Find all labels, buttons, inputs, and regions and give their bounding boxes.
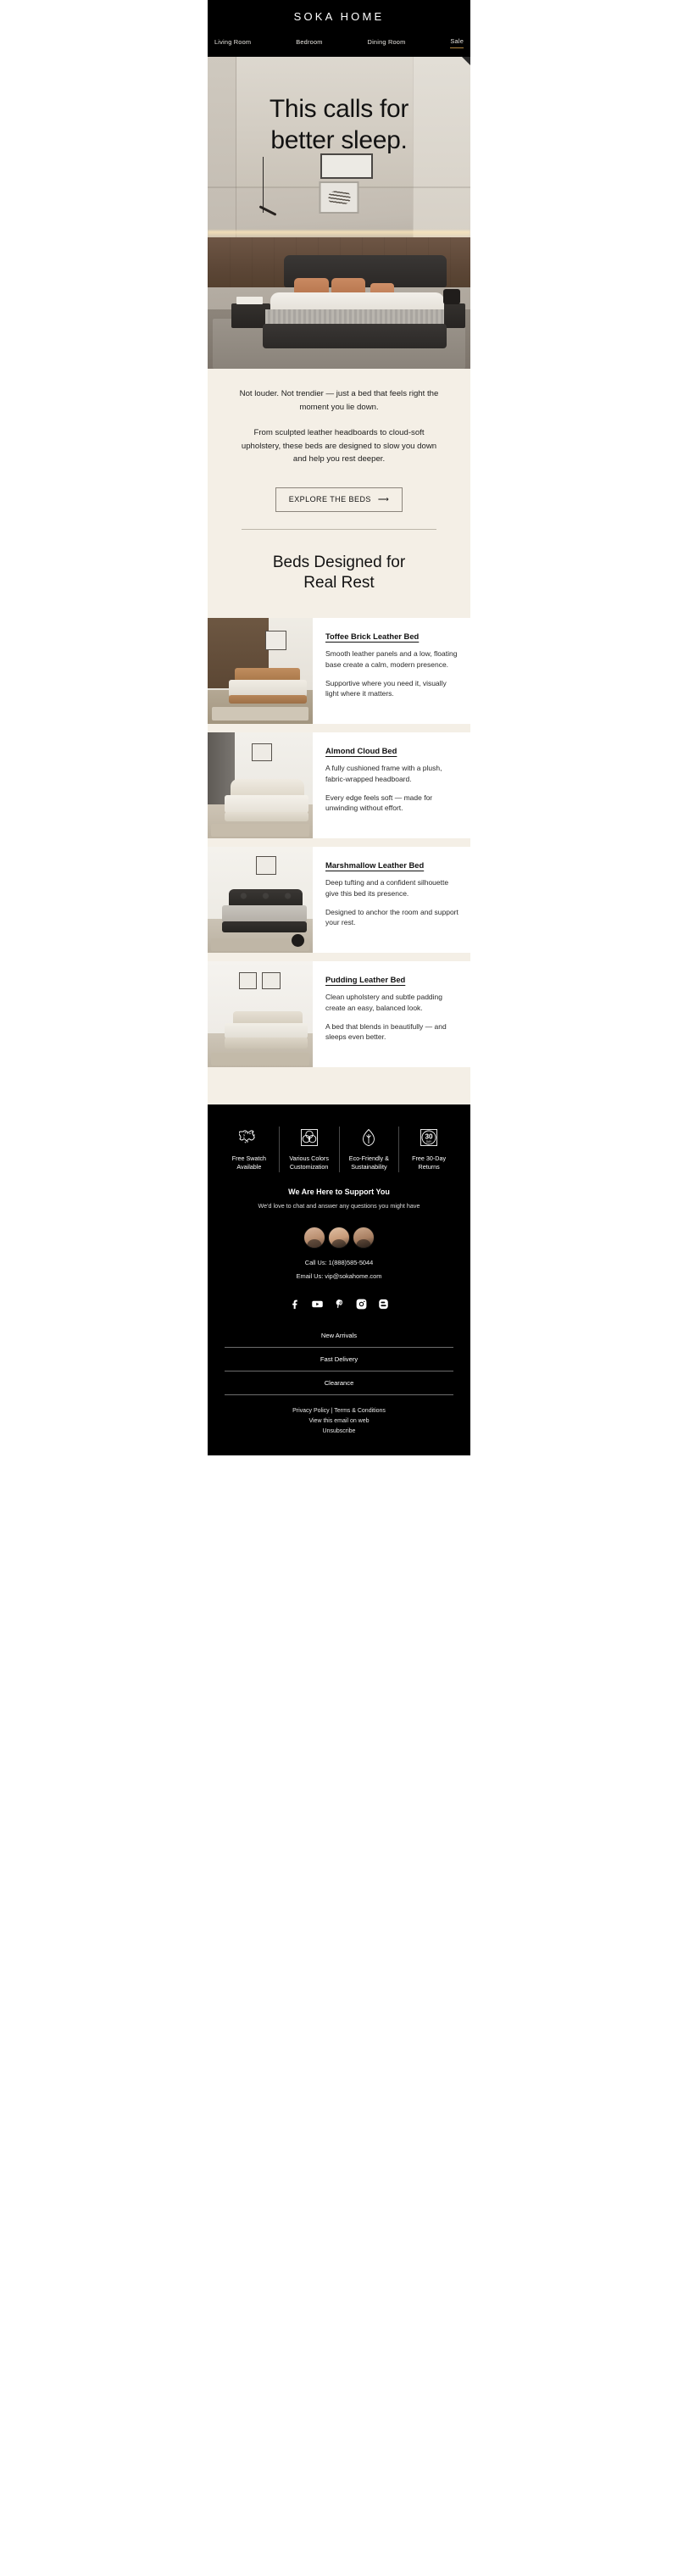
- footer-link-clearance[interactable]: Clearance: [225, 1371, 453, 1395]
- product-card-list: Toffee Brick Leather Bed Smooth leather …: [208, 618, 470, 1067]
- benefit-label: Various Colors Customization: [289, 1154, 329, 1172]
- benefit-label-line-2: Returns: [419, 1163, 440, 1171]
- hero-throw-blanket: [265, 309, 444, 325]
- blogger-icon[interactable]: [377, 1298, 390, 1310]
- brand-bar: SOKA HOME: [208, 0, 470, 32]
- thumb-bedding: [225, 795, 308, 813]
- product-description-1: A fully cushioned frame with a plush, fa…: [325, 763, 460, 785]
- hero-headline-line-1: This calls for: [208, 94, 470, 125]
- card-spacer: [208, 724, 470, 732]
- product-card[interactable]: Pudding Leather Bed Clean upholstery and…: [208, 961, 470, 1067]
- benefit-label: Free 30-Day Returns: [412, 1154, 446, 1172]
- product-card-body: Toffee Brick Leather Bed Smooth leather …: [313, 618, 470, 724]
- hero-art-lines: [328, 191, 350, 205]
- section-title-line-2: Real Rest: [225, 573, 453, 594]
- benefit-label: Free Swatch Available: [232, 1154, 266, 1172]
- hero-bed-base: [263, 324, 447, 348]
- product-image-pudding-leather-bed[interactable]: [208, 961, 313, 1067]
- thumb-scene: [208, 847, 313, 953]
- thumb-wall-art-icon: [265, 631, 286, 650]
- brand-logo: SOKA HOME: [294, 10, 385, 23]
- page-bottom-spacer: [0, 1455, 678, 1494]
- pinterest-icon[interactable]: [333, 1298, 346, 1310]
- hero-corner-fold-icon: [462, 57, 470, 65]
- thumb-wall-art-2-icon: [262, 972, 280, 989]
- email-canvas: SOKA HOME Living Room Bedroom Dining Roo…: [0, 0, 678, 1494]
- benefit-label-line-1: Free Swatch: [232, 1154, 266, 1162]
- product-card-body: Pudding Leather Bed Clean upholstery and…: [313, 961, 470, 1067]
- thumb-bed-base: [222, 921, 306, 933]
- benefit-label-line-2: Customization: [290, 1163, 329, 1171]
- arrow-right-icon: ⟶: [378, 495, 389, 504]
- benefit-label-line-1: Free 30-Day: [412, 1154, 446, 1162]
- support-subtitle: We'd love to chat and answer any questio…: [225, 1202, 453, 1210]
- product-card[interactable]: Marshmallow Leather Bed Deep tufting and…: [208, 847, 470, 953]
- thirty-day-icon: 30 DAY: [419, 1127, 439, 1149]
- footer-links: New Arrivals Fast Delivery Clearance: [208, 1324, 470, 1399]
- benefits-row: Free Swatch Available Various Colors Cus…: [208, 1118, 470, 1186]
- thumb-scene: [208, 732, 313, 838]
- benefit-label: Eco-Friendly & Sustainability: [349, 1154, 389, 1172]
- view-on-web-line: View this email on web: [208, 1418, 470, 1424]
- product-description-2: A bed that blends in beautifully — and s…: [325, 1021, 460, 1043]
- nav-item-dining-room[interactable]: Dining Room: [368, 38, 406, 48]
- product-card-body: Almond Cloud Bed A fully cushioned frame…: [313, 732, 470, 838]
- benefit-various-colors[interactable]: Various Colors Customization: [279, 1127, 339, 1172]
- product-title-link[interactable]: Toffee Brick Leather Bed: [325, 631, 419, 641]
- footer: Free Swatch Available Various Colors Cus…: [208, 1104, 470, 1455]
- intro-paragraph-2: From sculpted leather headboards to clou…: [236, 426, 442, 466]
- hero-banner[interactable]: This calls for better sleep.: [208, 57, 470, 369]
- contact-phone[interactable]: Call Us: 1(888)585-5044: [208, 1259, 470, 1266]
- terms-conditions-link[interactable]: Terms & Conditions: [334, 1408, 386, 1414]
- leather-hide-icon: [239, 1127, 259, 1149]
- privacy-policy-link[interactable]: Privacy Policy: [292, 1408, 330, 1414]
- contact-section: Call Us: 1(888)585-5044 Email Us: vip@so…: [208, 1258, 470, 1296]
- product-description-1: Clean upholstery and subtle padding crea…: [325, 992, 460, 1014]
- email-body: SOKA HOME Living Room Bedroom Dining Roo…: [208, 0, 470, 1455]
- product-image-almond-cloud-bed[interactable]: [208, 732, 313, 838]
- hero-framed-art-icon: [320, 181, 359, 214]
- main-navigation: Living Room Bedroom Dining Room Sale: [208, 32, 470, 57]
- thumb-bedding: [222, 905, 306, 922]
- product-description-2: Supportive where you need it, visually l…: [325, 678, 460, 700]
- hero-pendant-lamp-icon: [259, 205, 277, 216]
- card-spacer: [208, 838, 470, 847]
- benefit-eco-friendly[interactable]: Eco-Friendly & Sustainability: [339, 1127, 399, 1172]
- product-image-toffee-brick-leather-bed[interactable]: [208, 618, 313, 724]
- contact-email[interactable]: Email Us: vip@sokahome.com: [208, 1272, 470, 1280]
- explore-the-beds-button[interactable]: EXPLORE THE BEDS ⟶: [275, 487, 403, 512]
- legal-section: Privacy Policy | Terms & Conditions View…: [208, 1399, 470, 1455]
- thumb-bed-base: [225, 1038, 308, 1049]
- intro-section: Not louder. Not trendier — just a bed th…: [208, 369, 470, 482]
- product-card[interactable]: Almond Cloud Bed A fully cushioned frame…: [208, 732, 470, 838]
- nav-item-living-room[interactable]: Living Room: [214, 38, 251, 48]
- product-image-marshmallow-leather-bed[interactable]: [208, 847, 313, 953]
- product-description-2: Every edge feels soft — made for unwindi…: [325, 793, 460, 815]
- leaf-icon: [358, 1127, 379, 1149]
- product-title-link[interactable]: Marshmallow Leather Bed: [325, 860, 424, 870]
- support-section: We Are Here to Support You We'd love to …: [208, 1186, 470, 1218]
- thumb-wall-art-icon: [239, 972, 257, 989]
- footer-link-fast-delivery[interactable]: Fast Delivery: [225, 1348, 453, 1371]
- benefit-label-line-1: Eco-Friendly &: [349, 1154, 389, 1162]
- hero-wall-artwork-icon: [320, 153, 373, 178]
- youtube-icon[interactable]: [311, 1298, 324, 1310]
- hero-books: [236, 297, 263, 303]
- avatar: [328, 1227, 350, 1249]
- intro-paragraph-1: Not louder. Not trendier — just a bed th…: [236, 387, 442, 414]
- social-links: [208, 1296, 470, 1324]
- cards-bottom-spacer: [208, 1067, 470, 1104]
- thumb-bed-base: [229, 695, 307, 704]
- product-title-link[interactable]: Pudding Leather Bed: [325, 975, 405, 984]
- thumb-scene: [208, 961, 313, 1067]
- card-spacer: [208, 953, 470, 961]
- thumb-scene: [208, 618, 313, 724]
- unsubscribe-link[interactable]: Unsubscribe: [323, 1428, 356, 1434]
- thumb-headboard: [229, 889, 303, 906]
- thumb-rug: [211, 824, 310, 837]
- product-card-body: Marshmallow Leather Bed Deep tufting and…: [313, 847, 470, 953]
- thumb-bedding: [229, 680, 307, 697]
- svg-text:DAY: DAY: [426, 1140, 432, 1143]
- unsubscribe-line: Unsubscribe: [208, 1428, 470, 1434]
- product-description-1: Smooth leather panels and a low, floatin…: [325, 648, 460, 670]
- facebook-icon[interactable]: [289, 1298, 302, 1310]
- product-description-1: Deep tufting and a confident silhouette …: [325, 877, 460, 899]
- section-title: Beds Designed for Real Rest: [208, 530, 470, 618]
- benefit-free-returns[interactable]: 30 DAY Free 30-Day Returns: [398, 1127, 458, 1172]
- nav-item-bedroom[interactable]: Bedroom: [296, 38, 322, 48]
- benefit-label-line-1: Various Colors: [289, 1154, 329, 1162]
- section-title-line-1: Beds Designed for: [225, 553, 453, 574]
- thumb-wall-art-icon: [256, 856, 276, 874]
- cta-label: EXPLORE THE BEDS: [289, 495, 371, 504]
- hero-headline-line-2: better sleep.: [208, 125, 470, 157]
- thumb-rug: [211, 1053, 310, 1065]
- thumb-bedding: [225, 1023, 308, 1039]
- support-title: We Are Here to Support You: [225, 1188, 453, 1196]
- instagram-icon[interactable]: [355, 1298, 368, 1310]
- product-card[interactable]: Toffee Brick Leather Bed Smooth leather …: [208, 618, 470, 724]
- benefit-free-swatch[interactable]: Free Swatch Available: [220, 1127, 279, 1172]
- hero-headline: This calls for better sleep.: [208, 94, 470, 156]
- cta-container: EXPLORE THE BEDS ⟶: [208, 482, 470, 529]
- color-circles-icon: [299, 1127, 320, 1149]
- hero-pendant-cord: [263, 157, 264, 213]
- footer-link-new-arrivals[interactable]: New Arrivals: [225, 1324, 453, 1348]
- product-title-link[interactable]: Almond Cloud Bed: [325, 746, 397, 755]
- legal-policy-line: Privacy Policy | Terms & Conditions: [208, 1408, 470, 1414]
- view-email-on-web-link[interactable]: View this email on web: [308, 1418, 369, 1424]
- avatar: [353, 1227, 375, 1249]
- benefit-label-line-2: Available: [236, 1163, 261, 1171]
- product-description-2: Designed to anchor the room and support …: [325, 907, 460, 929]
- thumb-bed-base: [225, 812, 308, 821]
- thumb-wall-art-icon: [252, 743, 272, 761]
- hero-table-lamp-icon: [443, 289, 460, 304]
- avatar: [303, 1227, 325, 1249]
- benefit-label-line-2: Sustainability: [351, 1163, 386, 1171]
- thumb-rug: [212, 707, 308, 721]
- nav-item-sale[interactable]: Sale: [450, 37, 464, 48]
- thumb-decor-sphere: [292, 934, 304, 947]
- support-avatars: [208, 1218, 470, 1258]
